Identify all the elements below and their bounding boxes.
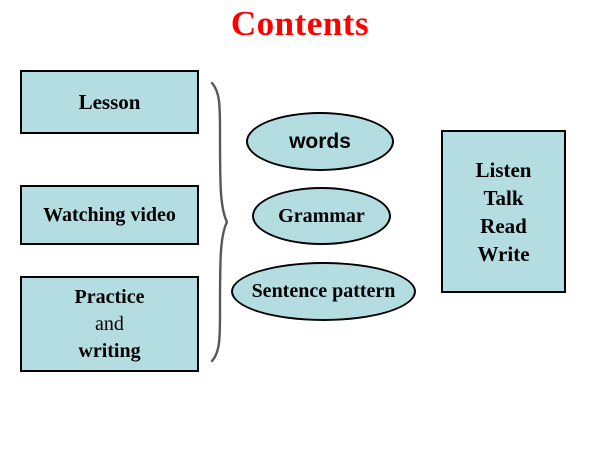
- practice-line-1: Practice: [75, 284, 145, 311]
- skill-talk: Talk: [483, 184, 523, 212]
- skills-box[interactable]: Listen Talk Read Write: [441, 130, 566, 293]
- content-box-lesson[interactable]: Lesson: [20, 70, 199, 134]
- practice-line-3: writing: [78, 338, 140, 365]
- content-box-practice-and-writing[interactable]: Practice and writing: [20, 276, 199, 372]
- topic-ellipse-sentence-pattern[interactable]: Sentence pattern: [231, 262, 416, 321]
- topic-ellipse-words[interactable]: words: [246, 112, 394, 171]
- content-box-watching-video-label: Watching video: [43, 204, 176, 227]
- right-curly-brace-icon: [196, 80, 230, 376]
- topic-ellipse-grammar[interactable]: Grammar: [252, 187, 391, 245]
- topic-ellipse-sentence-pattern-label: Sentence pattern: [252, 280, 396, 303]
- skill-read: Read: [480, 212, 527, 240]
- content-box-watching-video[interactable]: Watching video: [20, 185, 199, 245]
- skill-listen: Listen: [475, 156, 531, 184]
- skill-write: Write: [477, 240, 529, 268]
- practice-line-2: and: [95, 311, 124, 338]
- topic-ellipse-words-label: words: [289, 130, 351, 154]
- slide-canvas: Contents Lesson Watching video Practice …: [0, 0, 600, 450]
- page-title: Contents: [0, 4, 600, 44]
- content-box-lesson-label: Lesson: [79, 90, 141, 115]
- topic-ellipse-grammar-label: Grammar: [278, 205, 365, 228]
